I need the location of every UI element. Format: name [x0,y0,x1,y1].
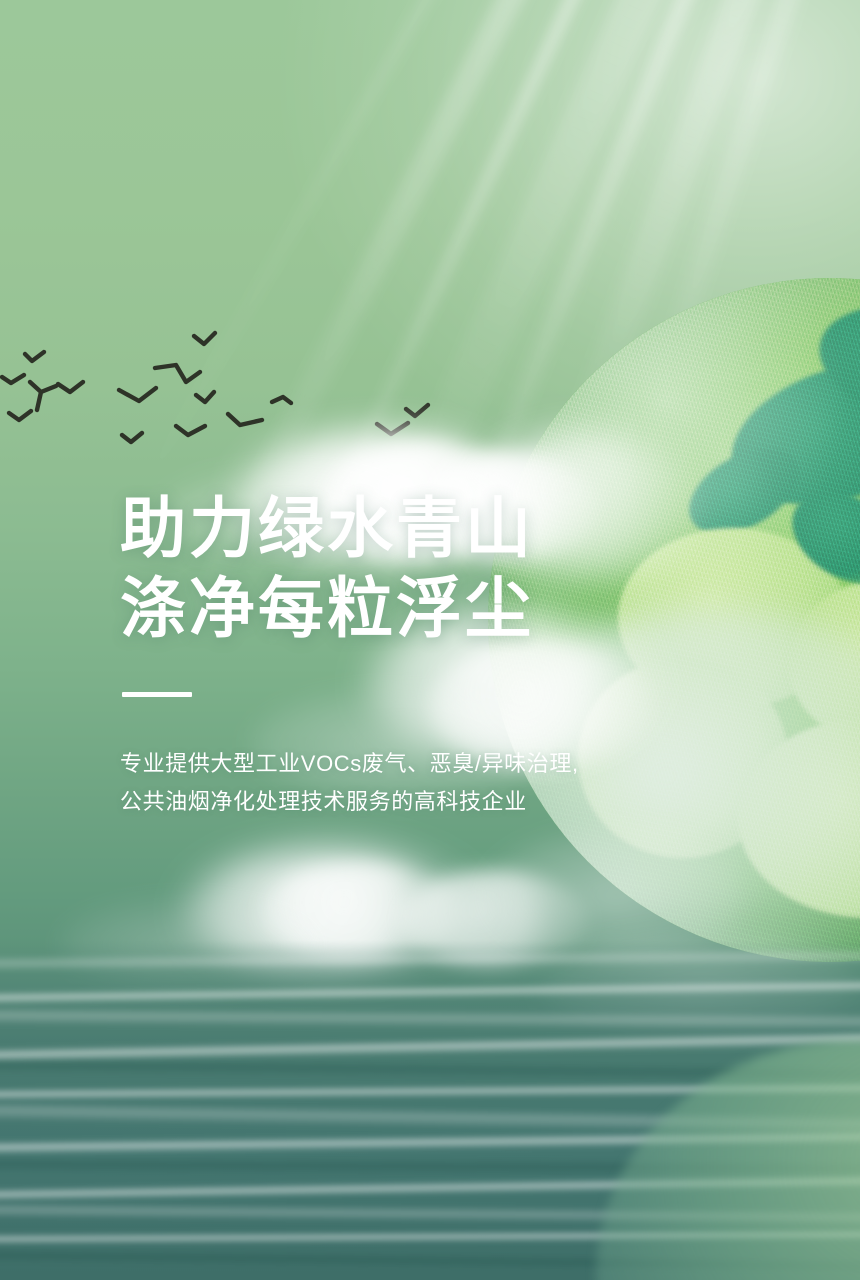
subtitle-line-1: 专业提供大型工业VOCs废气、恶臭/异味治理, [120,745,680,783]
water-surface [0,940,860,1280]
headline-line-2: 涤净每粒浮尘 [120,568,680,648]
birds-svg [0,330,470,460]
headline-copy-block: 助力绿水青山 涤净每粒浮尘 专业提供大型工业VOCs废气、恶臭/异味治理, 公共… [120,488,680,821]
divider-rule [122,692,192,697]
poster-banner: 助力绿水青山 涤净每粒浮尘 专业提供大型工业VOCs废气、恶臭/异味治理, 公共… [0,0,860,1280]
headline-line-1: 助力绿水青山 [120,488,680,568]
subtitle-line-2: 公共油烟净化处理技术服务的高科技企业 [120,783,680,821]
birds-flock [0,330,470,460]
